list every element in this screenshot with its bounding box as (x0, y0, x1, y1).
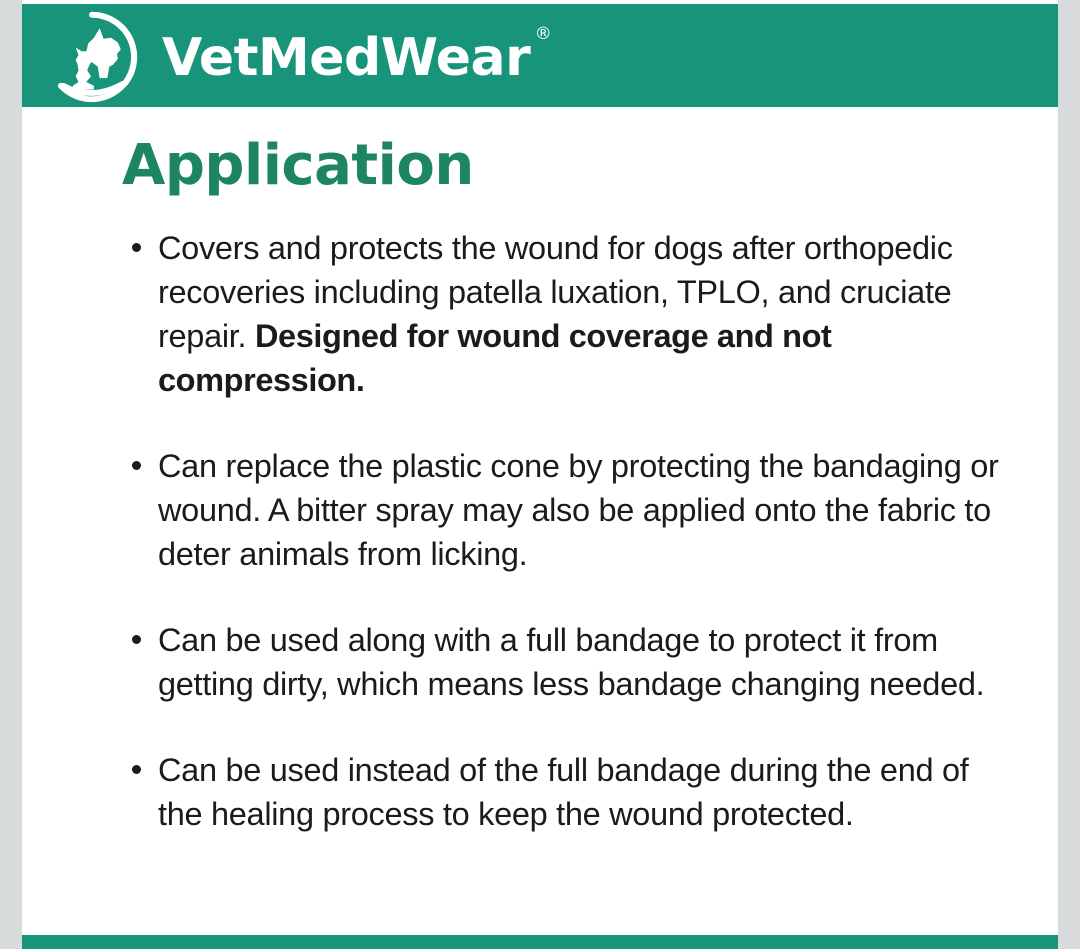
list-item: Covers and protects the wound for dogs a… (122, 226, 1018, 402)
brand-wordmark: VetMedWear® (162, 28, 530, 84)
document-sheet: VetMedWear® Application Covers and prote… (22, 0, 1058, 949)
application-bullet-list: Covers and protects the wound for dogs a… (122, 226, 1018, 836)
list-item: Can replace the plastic cone by protecti… (122, 444, 1018, 576)
registered-trademark-icon: ® (535, 26, 552, 43)
dog-cat-silhouette-in-circle-icon (44, 9, 140, 105)
content-area: Application Covers and protects the woun… (22, 107, 1058, 935)
brand-name-text: VetMedWear (162, 28, 530, 88)
list-item-text: Can be used instead of the full bandage … (158, 752, 968, 832)
page-title: Application (122, 137, 1018, 196)
list-item: Can be used instead of the full bandage … (122, 748, 1018, 836)
bullet-dot-icon (132, 461, 141, 470)
bullet-dot-icon (132, 765, 141, 774)
list-item: Can be used along with a full bandage to… (122, 618, 1018, 706)
list-item-text: Can replace the plastic cone by protecti… (158, 448, 999, 572)
bullet-dot-icon (132, 243, 141, 252)
footer-accent-bar (22, 935, 1058, 949)
list-item-text: Can be used along with a full bandage to… (158, 622, 984, 702)
brand-header: VetMedWear® (22, 4, 1058, 107)
list-item-text: Covers and protects the wound for dogs a… (158, 230, 953, 398)
bullet-dot-icon (132, 635, 141, 644)
